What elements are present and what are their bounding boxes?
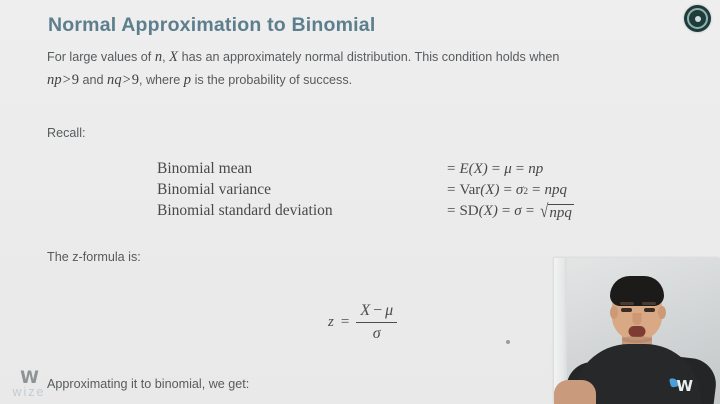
table-row: Binomial standard deviation =SD(X)=σ=√np… (157, 202, 574, 223)
square-root-npq: √npq (540, 204, 574, 222)
math-nine-1: 9 (72, 72, 79, 88)
intro-tail: is the probability of success. (191, 73, 352, 87)
value-npq: npq (544, 182, 567, 199)
presenter-ear-left (610, 306, 618, 319)
equals-3: = (512, 161, 528, 178)
presenter-eyebrow-right (642, 302, 656, 305)
page-title: Normal Approximation to Binomial (48, 14, 375, 37)
recall-term-mean: Binomial mean (157, 160, 443, 178)
radicand-npq: npq (548, 204, 574, 222)
equals-1: = (443, 182, 459, 199)
table-row: Binomial mean =E(X)=μ=np (157, 160, 574, 181)
math-np: np (47, 72, 62, 88)
presenter-chin-shadow (622, 336, 652, 343)
math-gt-1: > (62, 72, 72, 88)
z-fraction: X−μ σ (356, 302, 397, 342)
func-E: E (459, 161, 468, 178)
closing-paragraph: Approximating it to binomial, we get: (47, 376, 249, 393)
shirt-wize-logo-icon: W (676, 379, 692, 394)
numerator-minus: − (370, 302, 385, 319)
recall-term-standard-deviation: Binomial standard deviation (157, 202, 443, 220)
recall-label: Recall: (47, 125, 86, 142)
numerator-mu: μ (385, 302, 393, 319)
table-row: Binomial variance =Var(X)=σ2=npq (157, 181, 574, 202)
stray-dot-artifact (506, 340, 510, 344)
intro-paragraph-line-1: For large values of n, X has an approxim… (47, 48, 559, 68)
symbol-sigma: σ (516, 182, 523, 199)
recall-equation-mean: =E(X)=μ=np (443, 161, 543, 178)
math-gt-2: > (122, 72, 132, 88)
intro-text-a: For large values of (47, 50, 155, 64)
presenter-ear-right (658, 306, 666, 319)
presenter-eyebrow-left (620, 302, 634, 305)
presenter-eye-left (621, 308, 632, 312)
intro-text-c: has an approximately normal distribution… (178, 50, 559, 64)
equals-2: = (499, 182, 515, 199)
symbol-mu: μ (504, 161, 512, 178)
denominator-sigma: σ (373, 325, 381, 342)
equals-2: = (488, 161, 504, 178)
presenter-video-overlay[interactable]: W (554, 258, 720, 404)
symbol-sigma: σ (514, 203, 521, 220)
intro-paragraph-line-2: np>9 and nq>9, where p is the probabilit… (47, 71, 352, 91)
arg-X: (X) (480, 182, 499, 199)
intro-and: and (79, 73, 107, 87)
recall-term-variance: Binomial variance (157, 181, 443, 199)
value-np: np (528, 161, 543, 178)
z-formula-display: z = X−μ σ (328, 302, 397, 342)
func-SD: SD (459, 203, 478, 220)
presenter-nose (633, 313, 642, 325)
equals-1: = (443, 203, 459, 220)
wize-watermark-logo: W wize (6, 370, 52, 400)
z-numerator: X−μ (356, 302, 397, 322)
math-nine-2: 9 (132, 72, 139, 88)
record-target-icon[interactable] (684, 5, 711, 32)
math-nq: nq (107, 72, 122, 88)
radical-sign-icon: √ (540, 203, 548, 225)
presenter-hair (610, 276, 664, 306)
z-denominator: σ (369, 323, 385, 343)
presenter-eye-right (644, 308, 655, 312)
func-Var: Var (459, 182, 480, 199)
presenter-arm-left (554, 380, 596, 404)
recall-equation-standard-deviation: =SD(X)=σ=√npq (443, 203, 574, 222)
zformula-label: The z-formula is: (47, 249, 141, 266)
numerator-X: X (360, 302, 370, 319)
wize-wordmark: wize (6, 386, 52, 400)
arg-X: (X) (479, 203, 498, 220)
equals-1: = (443, 161, 459, 178)
arg-X: (X) (469, 161, 488, 178)
intro-where: , where (139, 73, 184, 87)
math-X: X (169, 49, 178, 65)
slide-canvas: Normal Approximation to Binomial For lar… (0, 0, 720, 404)
z-equals-sign: = (334, 314, 356, 331)
recall-formula-table: Binomial mean =E(X)=μ=np Binomial varian… (157, 160, 574, 223)
equals-2: = (498, 203, 514, 220)
equals-3: = (528, 182, 544, 199)
equals-3: = (522, 203, 538, 220)
record-center-dot (695, 16, 701, 22)
recall-equation-variance: =Var(X)=σ2=npq (443, 182, 567, 199)
wize-mark-icon: W (6, 370, 52, 386)
record-ring (687, 8, 708, 29)
